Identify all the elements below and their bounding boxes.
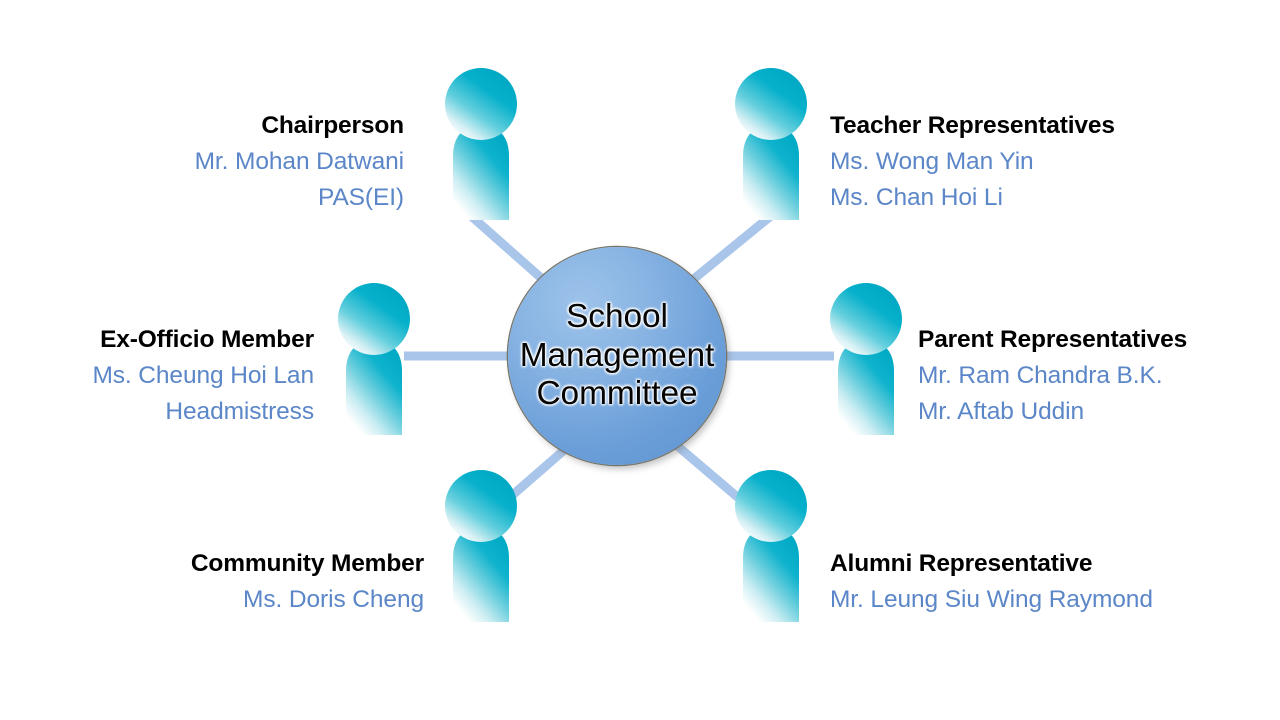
member-name-parent-rep-1: Mr. Ram Chandra B.K. xyxy=(918,358,1187,394)
role-title-chairperson: Chairperson xyxy=(195,108,404,144)
member-name-teacher-rep-2: Ms. Chan Hoi Li xyxy=(830,180,1115,216)
node-label-teacher-representatives: Teacher Representatives Ms. Wong Man Yin… xyxy=(830,108,1115,216)
member-name-ex-officio-1: Ms. Cheung Hoi Lan xyxy=(92,358,314,394)
person-icon-community-member xyxy=(437,470,525,622)
role-title-community-member: Community Member xyxy=(191,546,424,582)
person-icon-chairperson xyxy=(437,68,525,220)
member-name-ex-officio-2: Headmistress xyxy=(92,394,314,430)
member-name-parent-rep-2: Mr. Aftab Uddin xyxy=(918,394,1187,430)
node-label-parent-representatives: Parent Representatives Mr. Ram Chandra B… xyxy=(918,322,1187,430)
node-label-community-member: Community Member Ms. Doris Cheng xyxy=(191,546,424,618)
center-node-title: School Management Committee xyxy=(518,298,717,414)
role-title-teacher-representatives: Teacher Representatives xyxy=(830,108,1115,144)
role-title-alumni-representative: Alumni Representative xyxy=(830,546,1153,582)
member-name-teacher-rep-1: Ms. Wong Man Yin xyxy=(830,144,1115,180)
member-name-community-member-1: Ms. Doris Cheng xyxy=(191,582,424,618)
role-title-parent-representatives: Parent Representatives xyxy=(918,322,1187,358)
diagram-canvas: School Management Committee Chairperson … xyxy=(0,0,1280,720)
center-node-school-management-committee: School Management Committee xyxy=(508,247,726,465)
person-icon-alumni-representative xyxy=(727,470,815,622)
node-label-ex-officio-member: Ex-Officio Member Ms. Cheung Hoi Lan Hea… xyxy=(92,322,314,430)
person-icon-ex-officio-member xyxy=(330,283,418,435)
member-name-chairperson-2: PAS(EI) xyxy=(195,180,404,216)
node-label-alumni-representative: Alumni Representative Mr. Leung Siu Wing… xyxy=(830,546,1153,618)
member-name-chairperson-1: Mr. Mohan Datwani xyxy=(195,144,404,180)
person-icon-teacher-representatives xyxy=(727,68,815,220)
role-title-ex-officio-member: Ex-Officio Member xyxy=(92,322,314,358)
node-label-chairperson: Chairperson Mr. Mohan Datwani PAS(EI) xyxy=(195,108,404,216)
person-icon-parent-representatives xyxy=(822,283,910,435)
member-name-alumni-rep-1: Mr. Leung Siu Wing Raymond xyxy=(830,582,1153,618)
